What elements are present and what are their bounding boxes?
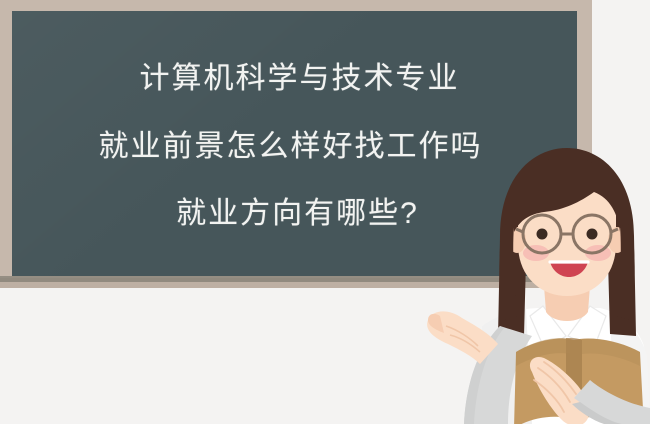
blackboard-line-1: 计算机科学与技术专业	[140, 63, 460, 95]
blackboard-line-3: 就业方向有哪些?	[176, 198, 419, 230]
teacher-illustration	[404, 140, 650, 424]
illustration-canvas: 计算机科学与技术专业 就业前景怎么样好找工作吗 就业方向有哪些?	[0, 0, 650, 424]
